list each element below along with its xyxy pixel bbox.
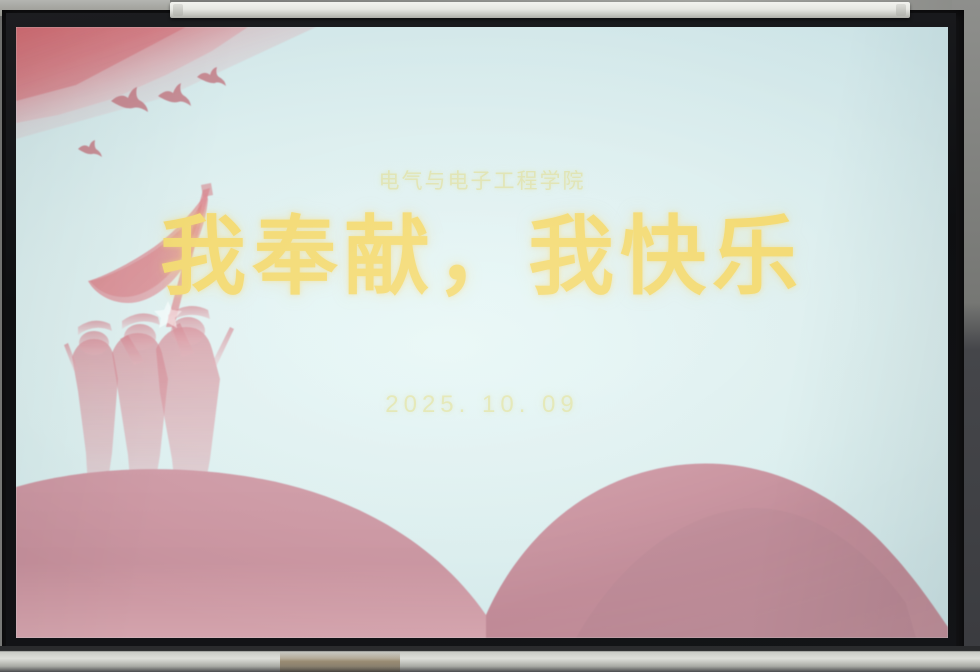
roller-end-cap-left [173,4,183,16]
slide-subtitle: 电气与电子工程学院 [16,165,948,195]
slide-date: 2025. 10. 09 [16,391,948,419]
slide-text-block: 电气与电子工程学院 我奉献，我快乐 2025. 10. 09 [16,27,948,638]
whiteboard-ledge [0,646,980,672]
ledge-shadow [280,646,400,672]
roller-end-cap-right [896,4,906,16]
projector-screen-photo: 电气与电子工程学院 我奉献，我快乐 2025. 10. 09 [0,0,980,672]
slide-title: 我奉献，我快乐 [16,209,948,305]
projected-slide: 电气与电子工程学院 我奉献，我快乐 2025. 10. 09 [16,27,948,638]
projector-screen-roller-bar [170,2,910,18]
